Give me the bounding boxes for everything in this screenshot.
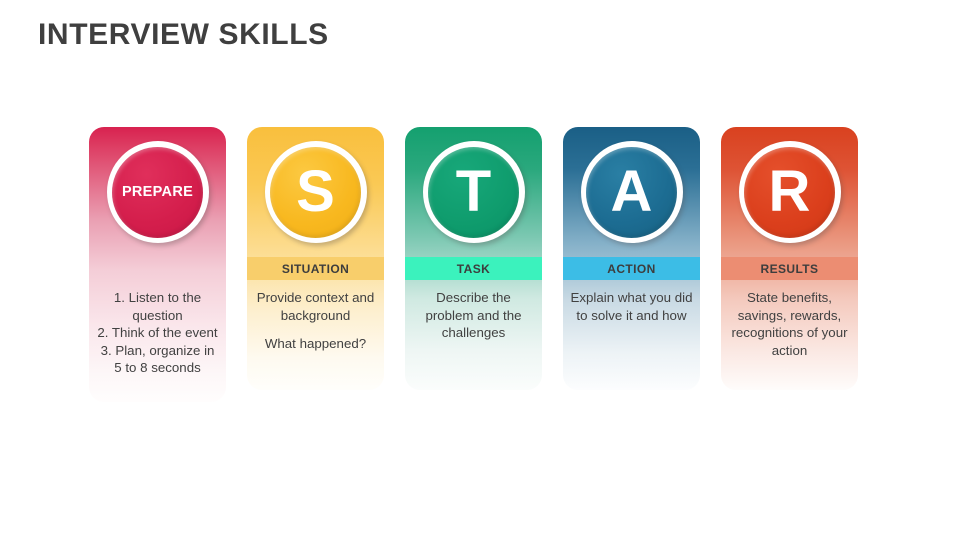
badge-label-prepare: PREPARE bbox=[122, 185, 193, 200]
slide-canvas: INTERVIEW SKILLS PREPARE 1. Listen to th… bbox=[0, 0, 960, 540]
card-situation[interactable]: S SITUATION Provide context and backgrou… bbox=[247, 127, 384, 390]
star-method-card-row: PREPARE 1. Listen to the question 2. Thi… bbox=[89, 127, 879, 402]
body-text-action: Explain what you did to solve it and how bbox=[570, 280, 694, 390]
card-action[interactable]: A ACTION Explain what you did to solve i… bbox=[563, 127, 700, 390]
badge-circle-results: R bbox=[739, 141, 841, 243]
badge-circle-inner-action: A bbox=[586, 147, 677, 238]
body-text-prepare: 1. Listen to the question 2. Think of th… bbox=[96, 280, 220, 402]
band-situation: SITUATION bbox=[247, 257, 384, 280]
body-text-task: Describe the problem and the challenges bbox=[412, 280, 536, 390]
body-text-situation: Provide context and background What happ… bbox=[254, 280, 378, 390]
circle-wrap-prepare: PREPARE bbox=[89, 127, 226, 257]
badge-letter-action: A bbox=[611, 163, 653, 221]
body-line: 1. Listen to the question bbox=[96, 289, 220, 324]
badge-circle-inner-prepare: PREPARE bbox=[112, 147, 203, 238]
band-action: ACTION bbox=[563, 257, 700, 280]
badge-circle-situation: S bbox=[265, 141, 367, 243]
body-line: Provide context and background bbox=[254, 289, 378, 324]
badge-circle-inner-results: R bbox=[744, 147, 835, 238]
badge-circle-inner-task: T bbox=[428, 147, 519, 238]
circle-wrap-task: T bbox=[405, 127, 542, 257]
card-task[interactable]: T TASK Describe the problem and the chal… bbox=[405, 127, 542, 390]
card-results[interactable]: R RESULTS State benefits, savings, rewar… bbox=[721, 127, 858, 390]
badge-circle-inner-situation: S bbox=[270, 147, 361, 238]
body-line: 3. Plan, organize in 5 to 8 seconds bbox=[96, 342, 220, 377]
band-results: RESULTS bbox=[721, 257, 858, 280]
badge-letter-task: T bbox=[456, 163, 491, 221]
band-task: TASK bbox=[405, 257, 542, 280]
body-line: Describe the problem and the challenges bbox=[412, 289, 536, 342]
body-line: State benefits, savings, rewards, recogn… bbox=[728, 289, 852, 359]
body-text-results: State benefits, savings, rewards, recogn… bbox=[728, 280, 852, 390]
badge-letter-situation: S bbox=[296, 163, 335, 221]
body-line: What happened? bbox=[254, 335, 378, 353]
badge-circle-action: A bbox=[581, 141, 683, 243]
circle-wrap-action: A bbox=[563, 127, 700, 257]
badge-circle-task: T bbox=[423, 141, 525, 243]
page-title: INTERVIEW SKILLS bbox=[38, 18, 329, 52]
card-prepare[interactable]: PREPARE 1. Listen to the question 2. Thi… bbox=[89, 127, 226, 402]
badge-circle-prepare: PREPARE bbox=[107, 141, 209, 243]
band-prepare bbox=[89, 257, 226, 280]
circle-wrap-results: R bbox=[721, 127, 858, 257]
badge-letter-results: R bbox=[769, 163, 811, 221]
circle-wrap-situation: S bbox=[247, 127, 384, 257]
body-line: 2. Think of the event bbox=[96, 324, 220, 342]
body-line: Explain what you did to solve it and how bbox=[570, 289, 694, 324]
